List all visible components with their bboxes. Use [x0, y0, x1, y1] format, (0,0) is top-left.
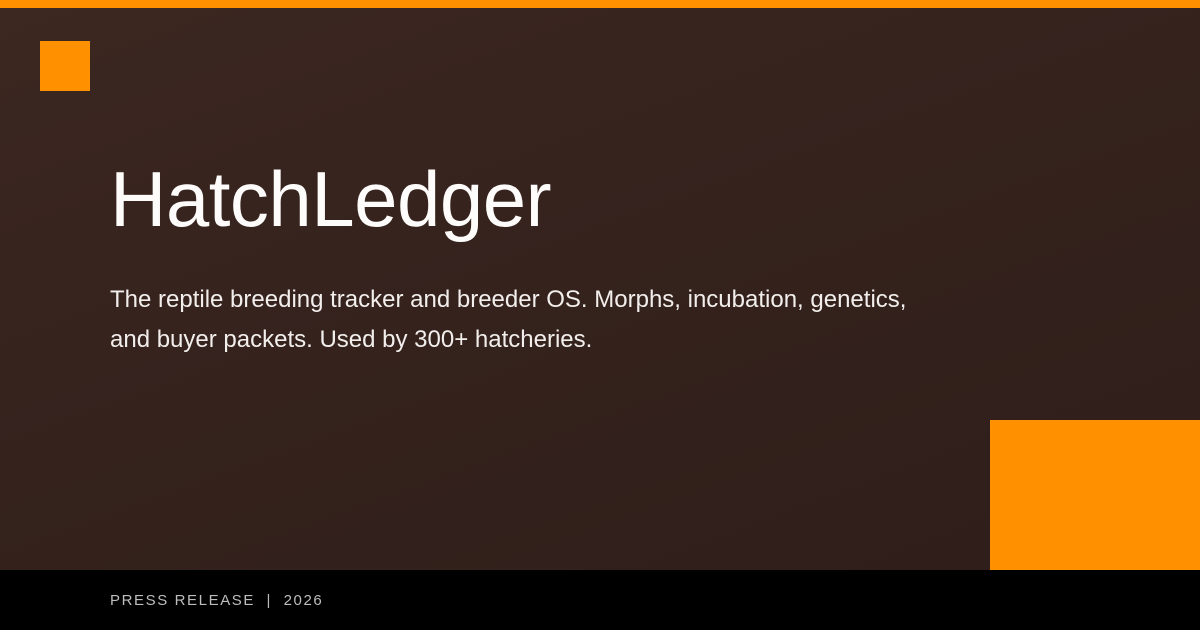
footer-content: PRESS RELEASE | 2026	[110, 570, 323, 630]
page-title: HatchLedger	[110, 160, 1010, 238]
title-slide: HatchLedger The reptile breeding tracker…	[0, 0, 1200, 630]
accent-block-bottom-right	[990, 420, 1200, 570]
hero-subhead: The reptile breeding tracker and breeder…	[110, 238, 950, 361]
footer-bar: PRESS RELEASE | 2026	[0, 570, 1200, 630]
hero-content: HatchLedger The reptile breeding tracker…	[110, 160, 1010, 361]
footer-label: PRESS RELEASE | 2026	[110, 592, 323, 609]
top-accent-rule	[0, 0, 1200, 8]
orange-square-logo-mark	[40, 41, 90, 91]
